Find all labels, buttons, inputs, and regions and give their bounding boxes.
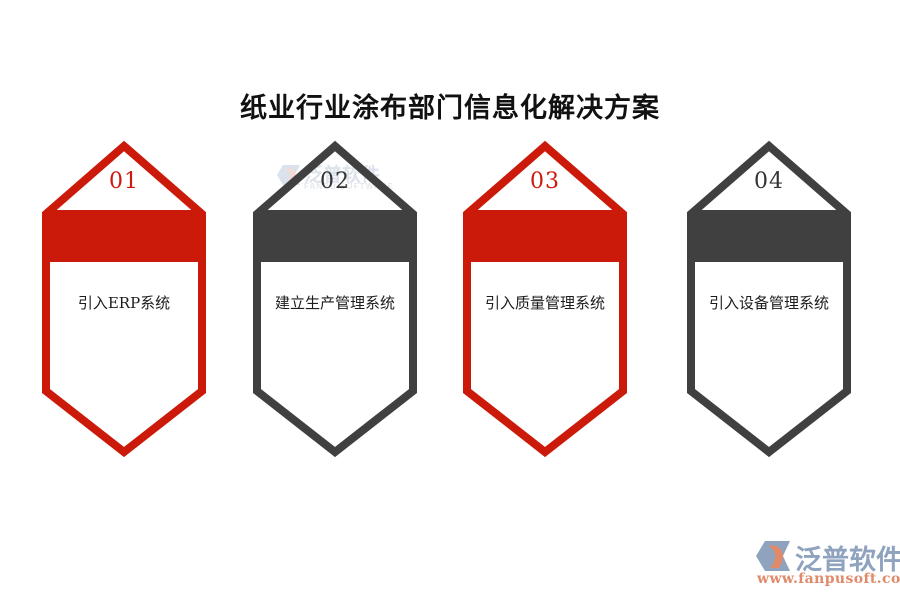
- step-banner-02[interactable]: 02 建立生产管理系统: [252, 141, 418, 457]
- step-number-04: 04: [686, 169, 852, 194]
- step-banner-04[interactable]: 04 引入设备管理系统: [686, 141, 852, 457]
- brand-logo-url: www.fanpusoft.com: [757, 571, 900, 587]
- brand-logo: 泛普软件 www.fanpusoft.com: [755, 538, 895, 590]
- page-title: 纸业行业涂布部门信息化解决方案: [0, 86, 900, 125]
- step-label-03: 引入质量管理系统: [476, 291, 614, 315]
- step-label-01: 引入ERP系统: [55, 291, 193, 315]
- step-label-04: 引入设备管理系统: [700, 291, 838, 315]
- step-number-01: 01: [41, 169, 207, 194]
- step-banner-01[interactable]: 01 引入ERP系统: [41, 141, 207, 457]
- step-number-03: 03: [462, 169, 628, 194]
- slide-canvas: 纸业行业涂布部门信息化解决方案 泛普软件 FANPU SOFTWARE 01 引…: [0, 0, 900, 600]
- step-banner-03[interactable]: 03 引入质量管理系统: [462, 141, 628, 457]
- brand-logo-icon: [755, 540, 793, 572]
- step-label-02: 建立生产管理系统: [266, 291, 404, 315]
- step-number-02: 02: [252, 169, 418, 194]
